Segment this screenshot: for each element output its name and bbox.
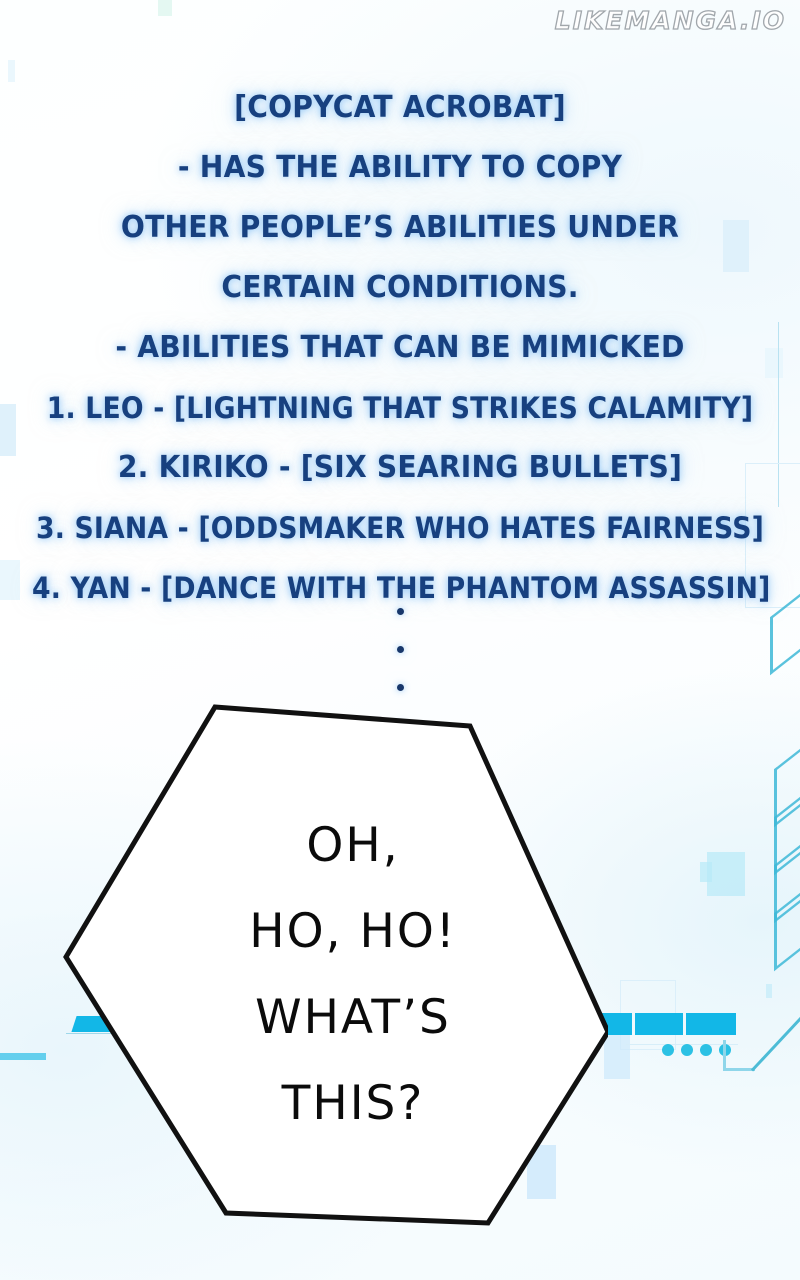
decor-block-cyan-right: [707, 852, 745, 896]
decor-dot-right-small: [766, 984, 772, 998]
narration-ability-siana: 3. SIANA - [ODDSMAKER WHO HATES FAIRNESS…: [32, 498, 768, 558]
ellipsis-dot: [397, 684, 404, 691]
decor-dot-1: [662, 1044, 674, 1056]
narration-block: [COPYCAT ACROBAT] - HAS THE ABILITY TO C…: [0, 78, 800, 618]
narration-line-title: [COPYCAT ACROBAT]: [24, 78, 776, 138]
speech-bubble: OH, HO, HO! WHAT’S THIS?: [60, 695, 608, 1230]
bubble-line-4: THIS?: [282, 1061, 425, 1147]
decor-cyan-bar-c: [686, 1013, 736, 1035]
narration-line-2: OTHER PEOPLE’S ABILITIES UNDER: [24, 198, 776, 258]
narration-line-1: - HAS THE ABILITY TO COPY: [24, 138, 776, 198]
bubble-line-1: OH,: [306, 803, 399, 889]
manga-panel: LIKEMANGA.IO [COPYCAT ACROBAT] - HAS THE…: [0, 0, 800, 1280]
narration-ability-leo: 1. LEO - [LIGHTNING THAT STRIKES CALAMIT…: [32, 378, 768, 438]
decor-dot-3: [700, 1044, 712, 1056]
speech-bubble-text: OH, HO, HO! WHAT’S THIS?: [60, 695, 608, 1230]
decor-diagonal-line: [751, 983, 800, 1071]
decor-block-topmid: [158, 0, 172, 16]
narration-line-4: - ABILITIES THAT CAN BE MIMICKED: [24, 318, 776, 378]
narration-line-3: CERTAIN CONDITIONS.: [24, 258, 776, 318]
narration-ability-kiriko: 2. KIRIKO - [SIX SEARING BULLETS]: [24, 438, 776, 498]
decor-block-cyan-right-2: [700, 862, 712, 882]
ellipsis-dot: [397, 608, 404, 615]
ellipsis-dot: [397, 646, 404, 653]
decor-cyan-strip-left: [0, 1053, 46, 1060]
bubble-line-2: HO, HO!: [249, 889, 456, 975]
decor-cyan-bar-b: [635, 1013, 683, 1035]
decor-corner-vert: [723, 1040, 726, 1070]
bubble-line-3: WHAT’S: [255, 975, 451, 1061]
watermark-likemanga: LIKEMANGA.IO: [555, 6, 786, 35]
decor-dot-2: [681, 1044, 693, 1056]
